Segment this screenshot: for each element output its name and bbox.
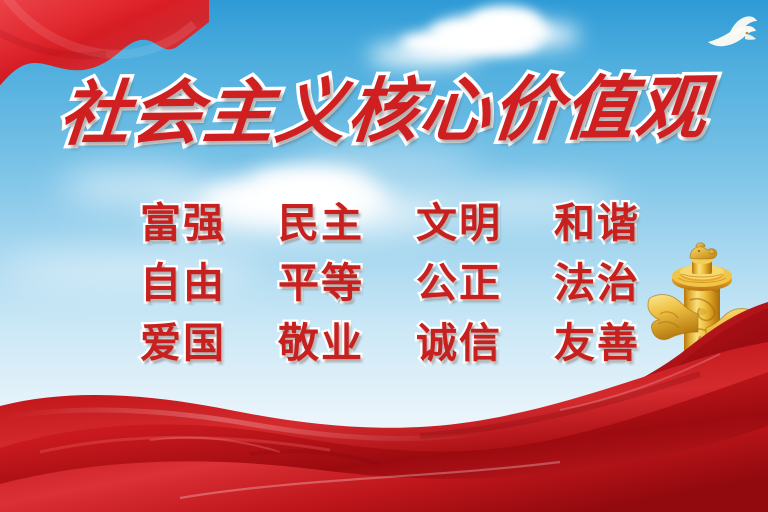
values-row: 自由 平等 公正 法治 (140, 262, 640, 305)
value-word: 敬业 (278, 322, 364, 365)
values-row: 富强 民主 文明 和谐 (140, 202, 640, 245)
headline-text: 社会主义核心价值观 (56, 73, 711, 150)
white-cloud (400, 28, 540, 58)
value-word: 友善 (554, 322, 640, 365)
value-word: 诚信 (416, 322, 502, 365)
value-word: 法治 (554, 262, 640, 305)
value-word: 自由 (140, 262, 226, 305)
value-word: 公正 (416, 262, 502, 305)
value-word: 文明 (416, 202, 502, 245)
value-word: 平等 (278, 262, 364, 305)
white-dove-icon (702, 14, 760, 58)
white-cloud (300, 150, 480, 176)
values-row: 爱国 敬业 诚信 友善 (140, 322, 640, 365)
page-title: 社会主义核心价值观 (0, 76, 768, 146)
white-cloud (470, 6, 540, 36)
white-cloud (430, 14, 550, 48)
value-word: 和谐 (554, 202, 640, 245)
value-word: 民主 (278, 202, 364, 245)
value-word: 爱国 (140, 322, 226, 365)
golden-huabiao-icon (638, 240, 766, 440)
white-cloud (368, 44, 478, 66)
poster-canvas: 社会主义核心价值观 富强 民主 文明 和谐 自由 平等 公正 法治 爱国 敬业 … (0, 0, 768, 512)
white-cloud (500, 24, 580, 46)
core-values-grid: 富强 民主 文明 和谐 自由 平等 公正 法治 爱国 敬业 诚信 友善 (140, 202, 640, 365)
value-word: 富强 (140, 202, 226, 245)
